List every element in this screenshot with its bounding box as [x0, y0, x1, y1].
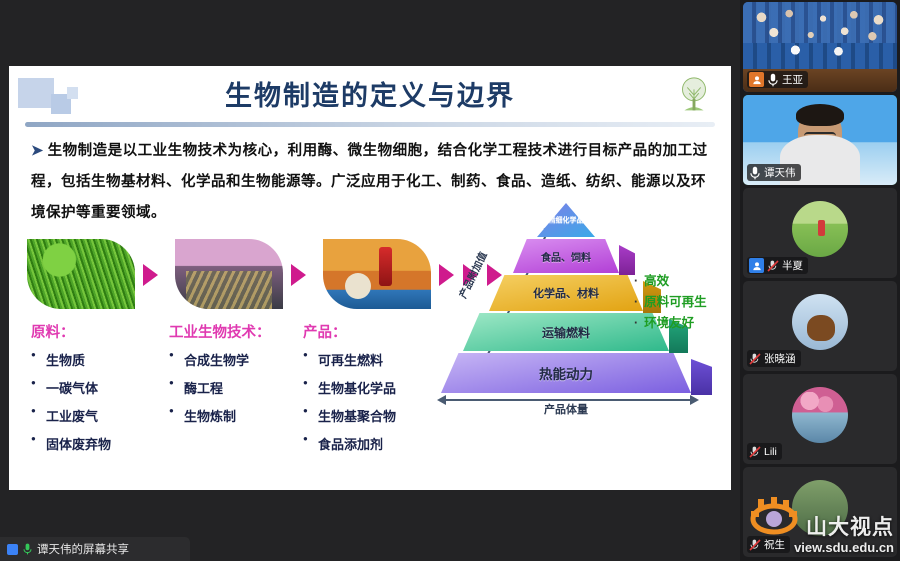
- participant-tile-lili[interactable]: Lili: [743, 374, 897, 464]
- screen-share-label: 谭天伟的屏幕共享: [37, 541, 129, 557]
- nameplate: 谭天伟: [747, 164, 801, 181]
- chemical-plant-image: [175, 239, 283, 309]
- column-heading: 原料：: [31, 321, 111, 342]
- microphone-icon: [749, 166, 761, 180]
- list-item: 一碳气体: [31, 378, 111, 397]
- audience-seats: [743, 6, 897, 69]
- column-heading: 产品：: [303, 321, 396, 342]
- flow-arrow-2-icon: [291, 264, 306, 286]
- column-list: 生物质 一碳气体 工业废气 固体废弃物: [31, 350, 111, 453]
- volume-axis-label: 产品体量: [441, 401, 691, 417]
- pyramid-level-1: 精细化学品: [537, 203, 595, 237]
- column-list: 可再生燃料 生物基化学品 生物基聚合物 食品添加剂: [303, 350, 396, 453]
- microphone-muted-icon: [749, 445, 761, 459]
- grass-biomass-image: [27, 239, 135, 309]
- speaker-portrait: [798, 108, 842, 158]
- list-item: 生物基聚合物: [303, 406, 396, 425]
- paragraph-bullet-marker: ➤: [31, 143, 44, 159]
- screen-share-status-bar: 谭天伟的屏幕共享: [0, 537, 190, 561]
- pyramid-side-2: [619, 245, 635, 275]
- process-flow-strip: [27, 239, 427, 311]
- pyramid-level-2-label: 食品、饲料: [513, 239, 619, 273]
- nameplate: 王亚: [747, 71, 808, 88]
- video-off-badge-icon: [749, 258, 764, 273]
- participant-name: 半夏: [782, 258, 803, 273]
- microphone-icon: [767, 73, 779, 87]
- flow-arrow-1-icon: [143, 264, 158, 286]
- participant-tile-wangya[interactable]: 王亚: [743, 2, 897, 92]
- screen-share-icon: [7, 544, 18, 555]
- list-item: 生物基化学品: [303, 378, 396, 397]
- list-item: 食品添加剂: [303, 434, 396, 453]
- list-item: 生物炼制: [169, 406, 271, 425]
- participant-name: 祝生: [764, 537, 785, 552]
- green-benefits-list: 高效 原料可再生 环境友好: [634, 271, 707, 334]
- title-divider: [25, 122, 715, 127]
- column-industrial-biotech: 工业生物技术： 合成生物学 酶工程 生物炼制: [169, 321, 271, 434]
- nameplate: 祝生: [747, 536, 790, 553]
- microphone-muted-icon: [749, 352, 761, 366]
- benefit-item: 原料可再生: [634, 292, 707, 313]
- presentation-slide: 生物制造的定义与边界 ➤生物制造是以工业生物技术为核心，利用酶、微生物细胞，结合…: [9, 66, 731, 490]
- column-raw-materials: 原料： 生物质 一碳气体 工业废气 固体废弃物: [31, 321, 111, 462]
- avatar: [792, 294, 848, 350]
- participant-tile-zhangxiaohan[interactable]: 张晓涵: [743, 281, 897, 371]
- pyramid-level-3: 化学品、材料: [489, 275, 643, 311]
- list-item: 工业废气: [31, 406, 111, 425]
- pyramid-level-5: 热能动力: [441, 353, 691, 393]
- slide-title: 生物制造的定义与边界: [9, 74, 731, 113]
- list-item: 可再生燃料: [303, 350, 396, 369]
- shared-screen-area[interactable]: 生物制造的定义与边界 ➤生物制造是以工业生物技术为核心，利用酶、微生物细胞，结合…: [0, 0, 740, 561]
- microphone-muted-icon: [749, 538, 761, 552]
- pyramid-level-3-label: 化学品、材料: [489, 275, 643, 311]
- participant-name: 谭天伟: [764, 165, 796, 180]
- host-badge-icon: [749, 72, 764, 87]
- participant-name: Lili: [764, 446, 777, 458]
- tree-logo-icon: [671, 74, 717, 120]
- pyramid-level-5-label: 热能动力: [441, 353, 691, 393]
- benefit-item: 环境友好: [634, 313, 707, 334]
- participant-rail[interactable]: 王亚 谭天伟: [740, 0, 900, 561]
- avatar: [792, 201, 848, 257]
- value-axis-label: 产品附加值: [454, 249, 489, 301]
- participant-tile-banxia[interactable]: 半夏: [743, 188, 897, 278]
- list-item: 生物质: [31, 350, 111, 369]
- benefit-item: 高效: [634, 271, 707, 292]
- participant-name: 王亚: [782, 72, 803, 87]
- participant-tile-zhusheng[interactable]: 祝生: [743, 467, 897, 557]
- column-list: 合成生物学 酶工程 生物炼制: [169, 350, 271, 425]
- nameplate: Lili: [747, 443, 782, 460]
- nameplate: 半夏: [747, 257, 808, 274]
- avatar: [792, 387, 848, 443]
- microphone-muted-icon: [767, 259, 779, 273]
- participant-tile-tantianwei[interactable]: 谭天伟: [743, 95, 897, 185]
- column-heading: 工业生物技术：: [169, 321, 271, 342]
- microphone-icon: [23, 543, 32, 555]
- participant-name: 张晓涵: [764, 351, 796, 366]
- column-products: 产品： 可再生燃料 生物基化学品 生物基聚合物 食品添加剂: [303, 321, 396, 462]
- nameplate: 张晓涵: [747, 350, 801, 367]
- pyramid-level-2: 食品、饲料: [513, 239, 619, 273]
- products-image: [323, 239, 431, 309]
- pyramid-side-5: [691, 359, 712, 395]
- list-item: 酶工程: [169, 378, 271, 397]
- video-conference-window: 生物制造的定义与边界 ➤生物制造是以工业生物技术为核心，利用酶、微生物细胞，结合…: [0, 0, 900, 561]
- list-item: 固体废弃物: [31, 434, 111, 453]
- list-item: 合成生物学: [169, 350, 271, 369]
- avatar: [792, 480, 848, 536]
- pyramid-level-1-label: 精细化学品: [537, 203, 595, 237]
